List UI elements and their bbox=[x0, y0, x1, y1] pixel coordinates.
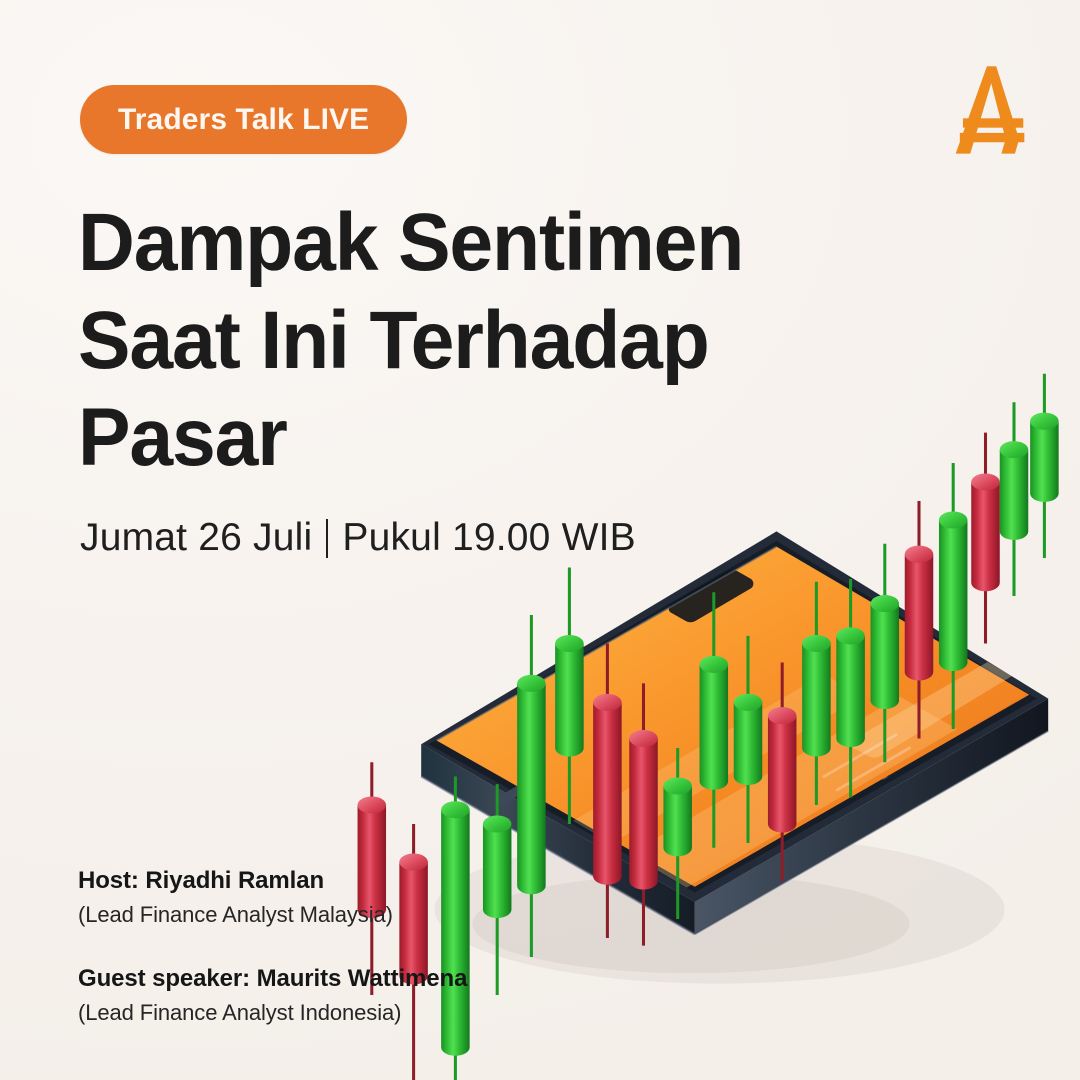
schedule-date: Jumat 26 Juli bbox=[80, 516, 312, 560]
headline-line-2: Saat Ini Terhadap bbox=[78, 292, 788, 390]
candle-18 bbox=[971, 433, 1000, 644]
credit-guest-role: (Lead Finance Analyst Indonesia) bbox=[78, 999, 467, 1028]
schedule-time: Pukul 19.00 WIB bbox=[342, 516, 635, 560]
headline-line-1: Dampak Sentimen bbox=[78, 194, 788, 292]
headline-line-3: Pasar bbox=[78, 389, 788, 487]
live-badge: Traders Talk LIVE bbox=[80, 85, 407, 154]
poster-canvas: Traders Talk LIVE Dampak Sentimen Saat I… bbox=[0, 0, 1080, 1080]
page-title: Dampak Sentimen Saat Ini Terhadap Pasar bbox=[78, 194, 788, 487]
schedule-separator bbox=[326, 519, 328, 558]
live-badge-label: Traders Talk LIVE bbox=[118, 103, 369, 137]
candle-20 bbox=[1030, 374, 1059, 558]
ascendant-a-logo bbox=[938, 58, 1042, 162]
credit-host-name: Host: Riyadhi Ramlan bbox=[78, 866, 467, 896]
credit-guest: Guest speaker: Maurits Wattimena (Lead F… bbox=[78, 964, 467, 1028]
schedule-line: Jumat 26 Juli Pukul 19.00 WIB bbox=[80, 516, 636, 560]
credits-block: Host: Riyadhi Ramlan (Lead Finance Analy… bbox=[78, 866, 467, 1061]
credit-guest-name: Guest speaker: Maurits Wattimena bbox=[78, 964, 467, 994]
credit-host: Host: Riyadhi Ramlan (Lead Finance Analy… bbox=[78, 866, 467, 930]
credit-host-role: (Lead Finance Analyst Malaysia) bbox=[78, 901, 467, 930]
candle-19 bbox=[1000, 402, 1029, 596]
